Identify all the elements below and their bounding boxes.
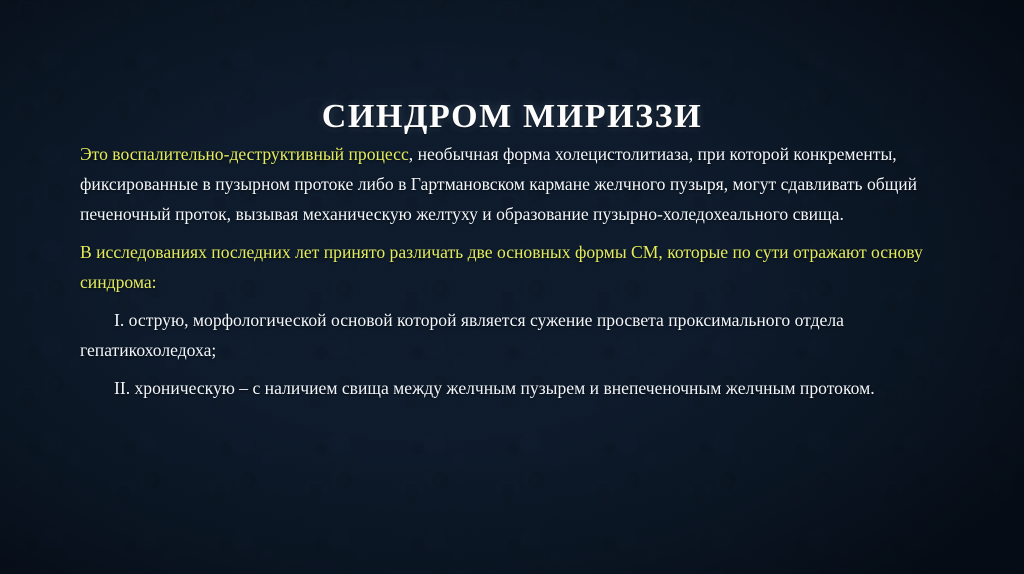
slide-title: СИНДРОМ МИРИЗЗИ xyxy=(0,99,1024,136)
highlighted-text-run: В исследованиях последних лет принято ра… xyxy=(80,242,923,292)
text-run: II. хроническую – с наличием свища между… xyxy=(114,378,875,398)
paragraph-form-two: II. хроническую – с наличием свища между… xyxy=(80,373,962,403)
presentation-slide: СИНДРОМ МИРИЗЗИ Это воспалительно-дестру… xyxy=(0,0,1024,574)
paragraph-form-one: I. острую, морфологической основой котор… xyxy=(80,305,962,365)
paragraph-forms-intro: В исследованиях последних лет принято ра… xyxy=(80,237,962,297)
paragraph-definition: Это воспалительно-деструктивный процесс,… xyxy=(80,139,962,229)
highlighted-text-run: Это воспалительно-деструктивный процесс xyxy=(80,144,409,164)
text-run: I. острую, морфологической основой котор… xyxy=(80,310,844,360)
slide-body-text: Это воспалительно-деструктивный процесс,… xyxy=(80,139,962,403)
slide-content: СИНДРОМ МИРИЗЗИ Это воспалительно-дестру… xyxy=(0,0,1024,574)
